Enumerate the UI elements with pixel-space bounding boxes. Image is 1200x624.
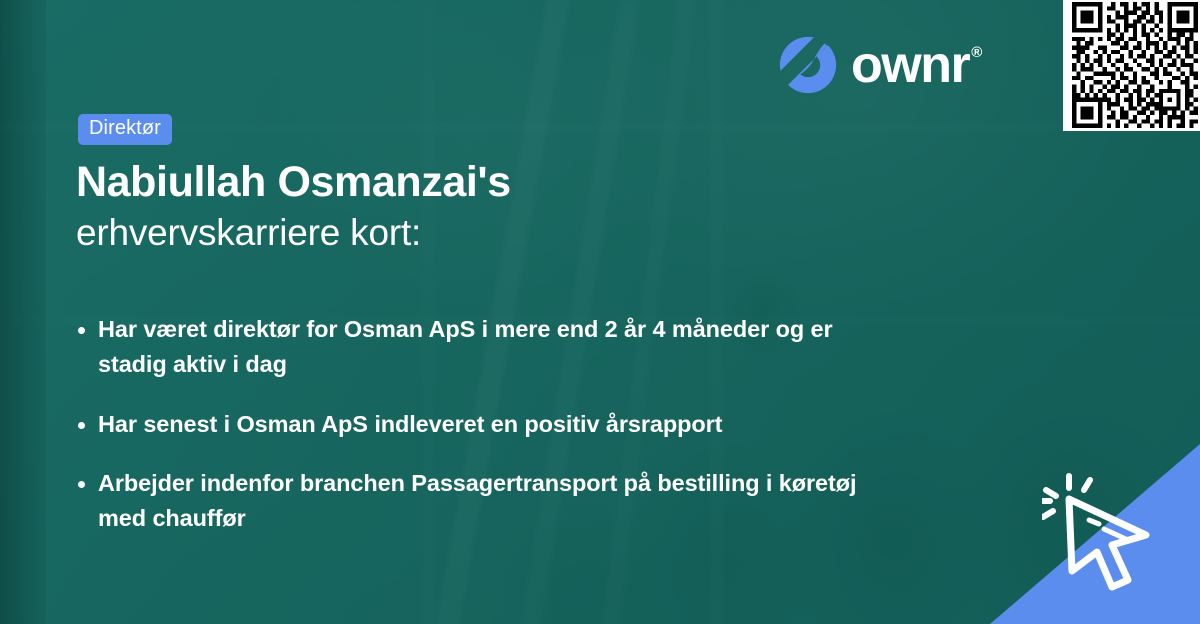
ownr-business-card-banner: ownr ® bbox=[0, 0, 1200, 624]
title-line-name: Nabiullah Osmanzai's bbox=[76, 156, 856, 209]
bullet-dot-icon bbox=[78, 327, 85, 334]
list-item: Arbejder indenfor branchen Passagertrans… bbox=[78, 466, 978, 537]
ownr-wordmark: ownr ® bbox=[851, 40, 981, 91]
registered-trademark-icon: ® bbox=[971, 45, 981, 60]
bullet-dot-icon bbox=[78, 422, 85, 429]
page-title: Nabiullah Osmanzai's erhvervskarriere ko… bbox=[76, 156, 856, 257]
career-highlights-list: Har været direktør for Osman ApS i mere … bbox=[78, 312, 978, 536]
list-item: Har været direktør for Osman ApS i mere … bbox=[78, 312, 978, 383]
role-badge: Direktør bbox=[78, 114, 172, 145]
title-line-subtitle: erhvervskarriere kort: bbox=[76, 209, 856, 256]
list-item: Har senest i Osman ApS indleveret en pos… bbox=[78, 407, 978, 442]
bullet-dot-icon bbox=[78, 481, 85, 488]
qr-code-icon bbox=[1072, 2, 1198, 128]
ownr-logo[interactable]: ownr ® bbox=[779, 36, 981, 94]
list-item-label: Har senest i Osman ApS indleveret en pos… bbox=[98, 407, 722, 442]
list-item-label: Arbejder indenfor branchen Passagertrans… bbox=[98, 466, 888, 537]
list-item-label: Har været direktør for Osman ApS i mere … bbox=[98, 312, 888, 383]
wordmark-text: ownr bbox=[851, 40, 969, 91]
left-edge-shade bbox=[0, 0, 46, 624]
qr-code-panel[interactable] bbox=[1063, 0, 1200, 131]
ownr-swirl-logo-icon bbox=[779, 36, 837, 94]
